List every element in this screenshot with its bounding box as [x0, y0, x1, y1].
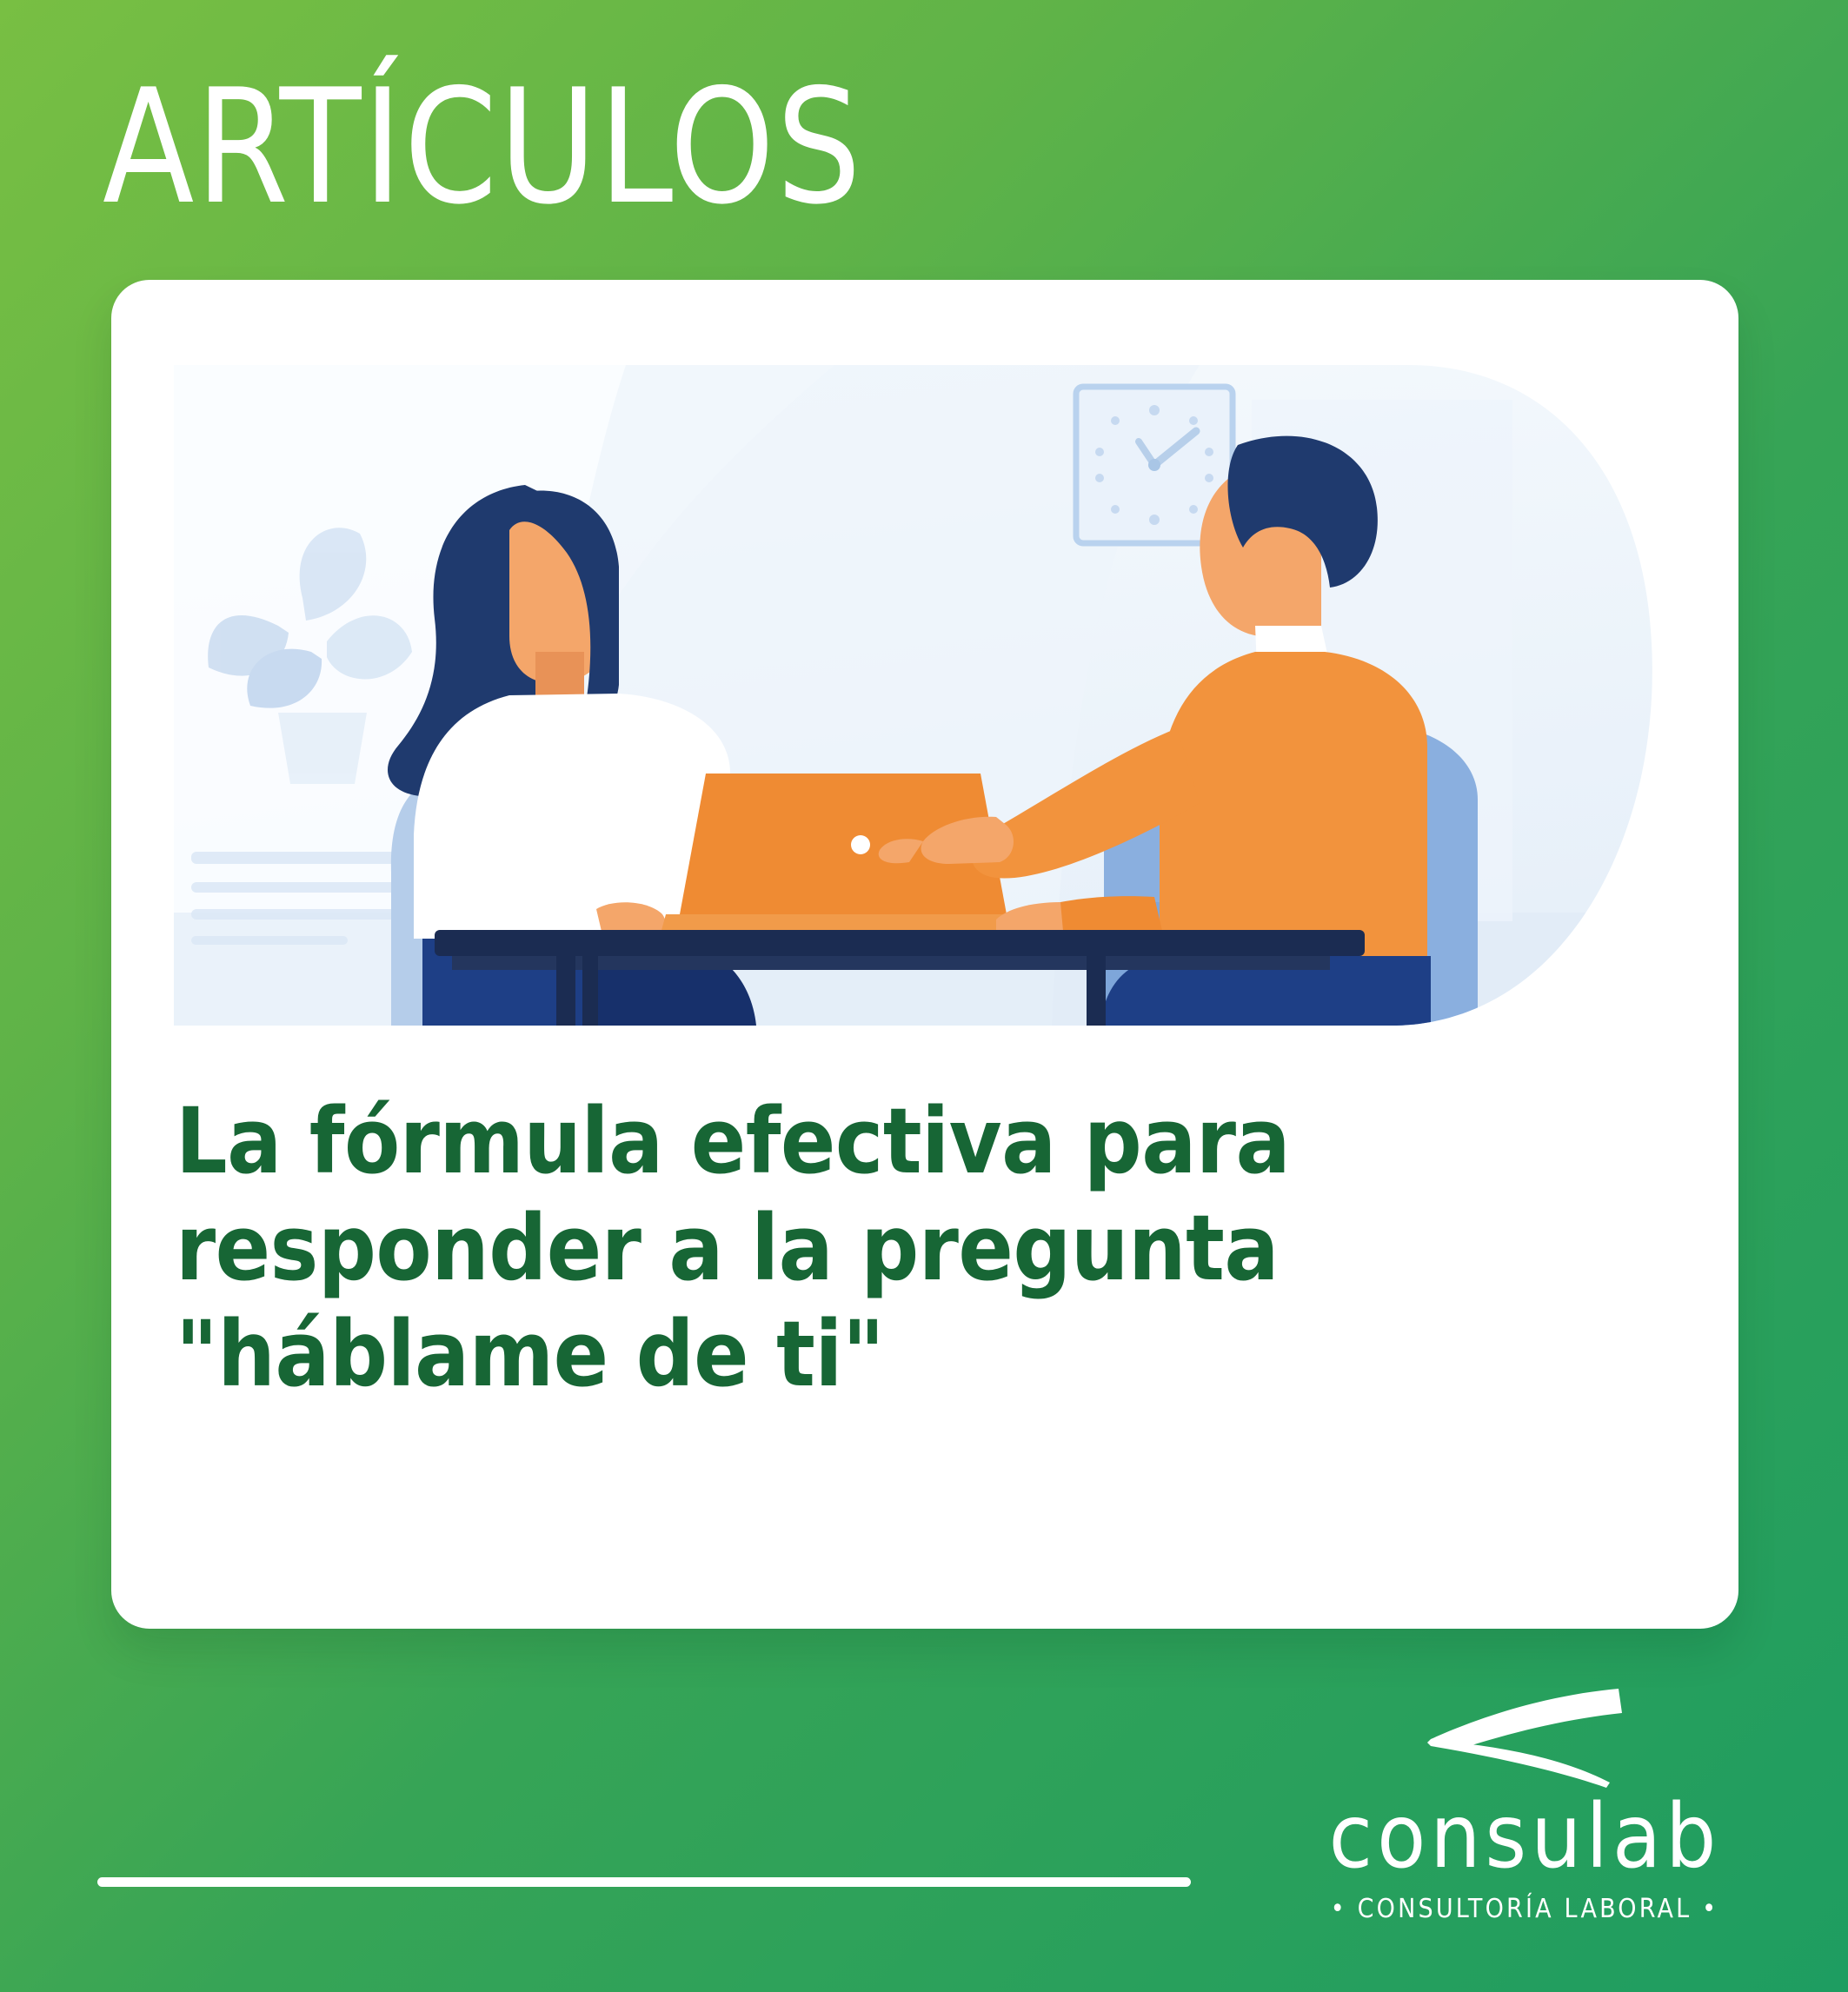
- swoosh-chevron-mark: [1417, 1685, 1632, 1789]
- footer-divider: [97, 1877, 1191, 1887]
- brand-logo[interactable]: consulab • CONSULTORÍA LABORAL •: [1281, 1685, 1768, 1924]
- job-interview-illustration: [174, 365, 1676, 1026]
- article-card[interactable]: La fórmula efectiva para responder a la …: [111, 280, 1738, 1629]
- brand-name: consulab: [1281, 1793, 1768, 1882]
- article-headline: La fórmula efectiva para responder a la …: [176, 1088, 1497, 1408]
- page-title: ARTÍCULOS: [103, 68, 863, 226]
- brand-tagline: • CONSULTORÍA LABORAL •: [1281, 1894, 1768, 1924]
